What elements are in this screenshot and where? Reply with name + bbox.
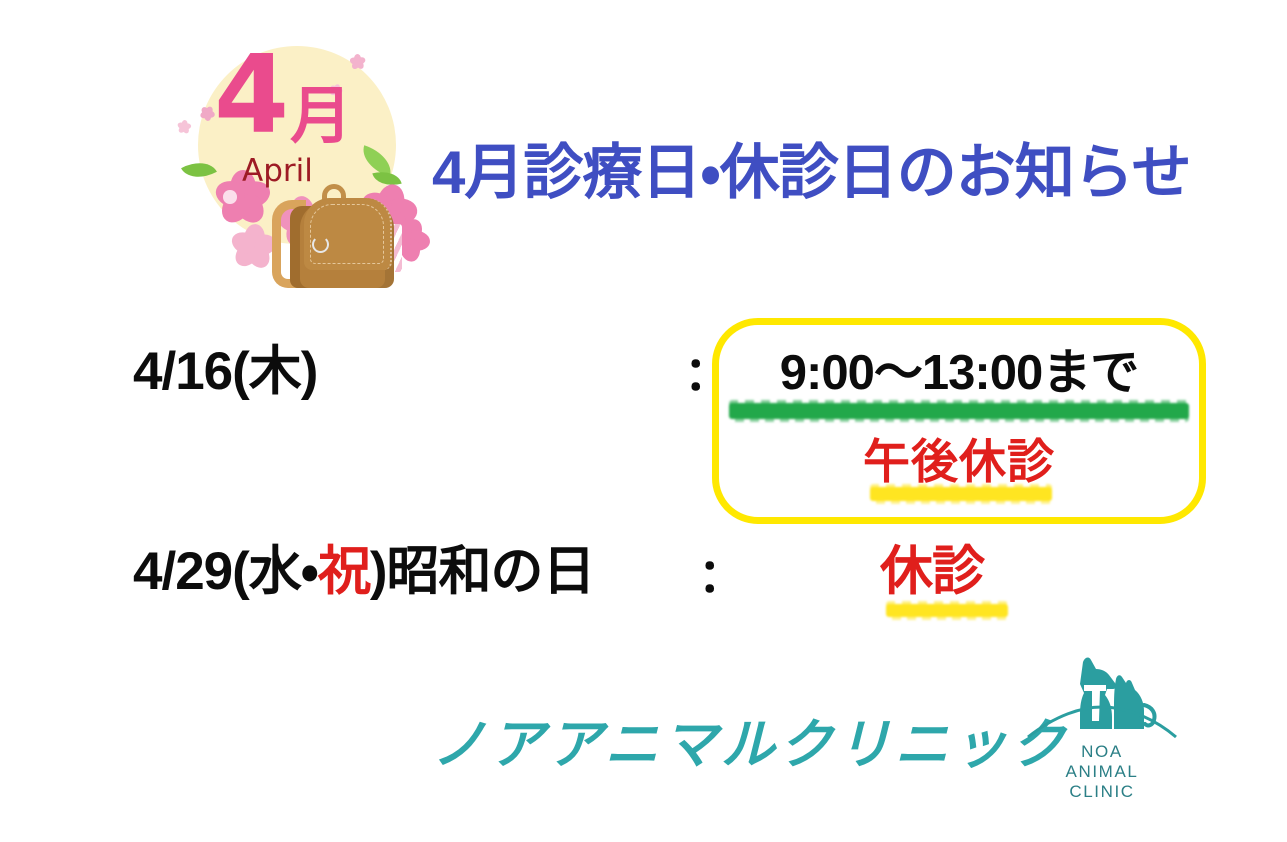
yellow-marker-highlight-row2: [886, 604, 1008, 617]
consultation-hours: 9:00〜13:00まで: [719, 349, 1199, 398]
month-kanji: 月: [290, 86, 352, 148]
april-illustration: 4 月 April: [160, 28, 430, 303]
sakura-petal-small: [196, 106, 211, 121]
sakura-petal-small: [174, 120, 188, 134]
month-english: April: [242, 156, 313, 187]
logo-line-2: ANIMAL: [1022, 763, 1182, 781]
afternoon-closed-status: 午後休診: [719, 438, 1199, 485]
date-label-row2: 4/29(水・祝)昭和の日: [133, 545, 594, 598]
backpack-flap: [304, 198, 392, 270]
randoseru-backpack-icon: [264, 176, 406, 308]
date-label-row1: 4/16(木): [133, 345, 317, 398]
dog-and-cat-logo-icon: [1022, 655, 1182, 741]
yellow-marker-highlight: [870, 487, 1052, 501]
logo-line-3: CLINIC: [1022, 783, 1182, 801]
hours-callout-box: 9:00〜13:00まで 午後休診: [712, 318, 1206, 524]
green-marker-highlight: [729, 403, 1189, 419]
month-number: 4: [214, 42, 285, 150]
row2-closed-status: 休診: [880, 545, 984, 598]
date-row2-suffix: )昭和の日: [370, 542, 595, 601]
date-row2-prefix: 4/29(水・: [133, 542, 318, 601]
logo-line-1: NOA: [1022, 743, 1182, 761]
clinic-logo: NOA ANIMAL CLINIC: [1022, 655, 1182, 805]
page-title: 4月診療日・休診日のお知らせ: [432, 143, 1191, 203]
sakura-flower: [220, 224, 266, 270]
public-holiday-mark: 祝: [318, 542, 370, 601]
row2-colon: ：: [698, 552, 745, 599]
sakura-petal-small: [346, 54, 362, 70]
clinic-name-japanese: ノアアニマルクリニック: [432, 718, 1069, 772]
notice-poster: 4 月 April 4月診療日・休診日のお知らせ 4/16(木) ： 9:00〜…: [0, 0, 1287, 842]
backpack-buckle: [312, 236, 329, 253]
